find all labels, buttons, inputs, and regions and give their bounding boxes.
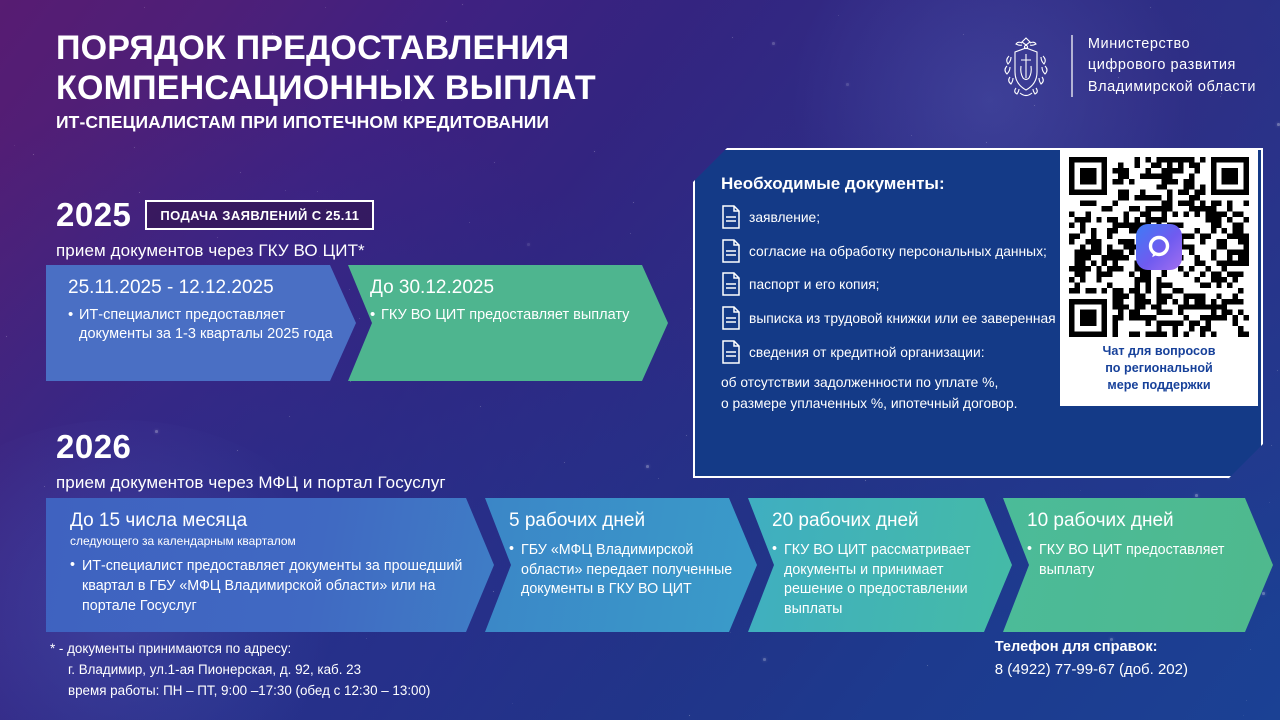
section-2026-header: 2026 прием документов через МФЦ и портал… bbox=[56, 428, 446, 493]
phone-label: Телефон для справок: bbox=[995, 637, 1188, 659]
footnote-line-3: время работы: ПН – ПТ, 9:00 –17:30 (обед… bbox=[50, 680, 430, 701]
step-subheading: следующего за календарным кварталом bbox=[70, 534, 472, 550]
section-2025-header: 2025 ПОДАЧА ЗАЯВЛЕНИЙ С 25.11 прием доку… bbox=[56, 196, 374, 261]
step-heading: 25.11.2025 - 12.12.2025 bbox=[68, 276, 336, 300]
ministry-line-3: Владимирской области bbox=[1088, 77, 1256, 98]
year-2026-label: 2026 bbox=[56, 428, 446, 466]
document-label: паспорт и его копия; bbox=[749, 277, 880, 292]
footnote-block: * - документы принимаются по адресу: г. … bbox=[50, 638, 430, 702]
qr-caption-line-3: мере поддержки bbox=[1103, 377, 1216, 394]
poster-title-block: ПОРЯДОК ПРЕДОСТАВЛЕНИЯ КОМПЕНСАЦИОННЫХ В… bbox=[56, 28, 756, 133]
timeline-step: До 15 числа месяца следующего за календа… bbox=[46, 498, 494, 632]
step-bullet: ГКУ ВО ЦИТ рассматривает документы и при… bbox=[772, 541, 990, 620]
timeline-2025: 25.11.2025 - 12.12.2025 ИТ-специалист пр… bbox=[46, 265, 668, 381]
step-bullet: ГБУ «МФЦ Владимирской области» передает … bbox=[509, 541, 735, 600]
document-label: сведения от кредитной организации: bbox=[749, 345, 985, 360]
year-2025-label: 2025 bbox=[56, 196, 131, 234]
timeline-step: 20 рабочих дней ГКУ ВО ЦИТ рассматривает… bbox=[748, 498, 1012, 632]
infographic-poster: ПОРЯДОК ПРЕДОСТАВЛЕНИЯ КОМПЕНСАЦИОННЫХ В… bbox=[0, 0, 1280, 720]
qr-code-icon[interactable] bbox=[1069, 157, 1249, 337]
step-heading: 20 рабочих дней bbox=[772, 510, 990, 533]
contact-phone-block: Телефон для справок: 8 (4922) 77-99-67 (… bbox=[995, 637, 1188, 681]
section-2026-note: прием документов через МФЦ и портал Госу… bbox=[56, 473, 446, 493]
step-bullet: ИТ-специалист предоставляет документы за… bbox=[70, 557, 472, 616]
ministry-line-1: Министерство bbox=[1088, 34, 1256, 55]
document-icon bbox=[721, 272, 741, 303]
footnote-line-2: г. Владимир, ул.1-ая Пионерская, д. 92, … bbox=[50, 659, 430, 680]
logo-divider bbox=[1071, 35, 1073, 97]
step-heading: 10 рабочих дней bbox=[1027, 510, 1251, 533]
timeline-step: 5 рабочих дней ГБУ «МФЦ Владимирской обл… bbox=[485, 498, 757, 632]
ministry-logo: Министерство цифрового развития Владимир… bbox=[996, 30, 1256, 102]
qr-caption: Чат для вопросов по региональной мере по… bbox=[1103, 343, 1216, 394]
page-subtitle: ИТ-СПЕЦИАЛИСТАМ ПРИ ИПОТЕЧНОМ КРЕДИТОВАН… bbox=[56, 112, 756, 133]
document-label: согласие на обработку персональных данны… bbox=[749, 244, 1047, 259]
step-heading: 5 рабочих дней bbox=[509, 510, 735, 533]
step-bullet: ИТ-специалист предоставляет документы за… bbox=[68, 306, 336, 345]
qr-caption-line-2: по региональной bbox=[1103, 360, 1216, 377]
timeline-step: 25.11.2025 - 12.12.2025 ИТ-специалист пр… bbox=[46, 265, 356, 381]
document-icon bbox=[721, 340, 741, 371]
status-badge-2025: ПОДАЧА ЗАЯВЛЕНИЙ С 25.11 bbox=[145, 200, 374, 230]
qr-support-chat-card[interactable]: Чат для вопросов по региональной мере по… bbox=[1060, 148, 1258, 406]
timeline-step: 10 рабочих дней ГКУ ВО ЦИТ предоставляет… bbox=[1003, 498, 1273, 632]
step-bullet-list: ИТ-специалист предоставляет документы за… bbox=[70, 557, 472, 616]
max-messenger-icon bbox=[1136, 224, 1182, 270]
vladimir-coat-of-arms-icon bbox=[996, 30, 1056, 102]
document-icon bbox=[721, 205, 741, 236]
ministry-line-2: цифрового развития bbox=[1088, 55, 1256, 76]
step-heading: До 30.12.2025 bbox=[370, 276, 648, 300]
document-icon bbox=[721, 306, 741, 337]
step-bullet-list: ГКУ ВО ЦИТ предоставляет выплату bbox=[370, 306, 648, 327]
document-label: заявление; bbox=[749, 210, 820, 225]
step-bullet-list: ГБУ «МФЦ Владимирской области» передает … bbox=[509, 541, 735, 600]
qr-caption-line-1: Чат для вопросов bbox=[1103, 343, 1216, 360]
footnote-line-1: * - документы принимаются по адресу: bbox=[50, 638, 430, 659]
step-bullet: ГКУ ВО ЦИТ предоставляет выплату bbox=[370, 306, 648, 326]
timeline-step: До 30.12.2025 ГКУ ВО ЦИТ предоставляет в… bbox=[348, 265, 668, 381]
ministry-name: Министерство цифрового развития Владимир… bbox=[1088, 34, 1256, 98]
step-bullet: ГКУ ВО ЦИТ предоставляет выплату bbox=[1027, 541, 1251, 580]
timeline-2026: До 15 числа месяца следующего за календа… bbox=[46, 498, 1273, 632]
step-bullet-list: ГКУ ВО ЦИТ рассматривает документы и при… bbox=[772, 541, 990, 620]
section-2025-note: прием документов через ГКУ ВО ЦИТ* bbox=[56, 241, 374, 261]
document-label: выписка из трудовой книжки или ее завере… bbox=[749, 311, 1100, 326]
page-title-line-2: КОМПЕНСАЦИОННЫХ ВЫПЛАТ bbox=[56, 68, 756, 108]
phone-number[interactable]: 8 (4922) 77-99-67 (доб. 202) bbox=[995, 659, 1188, 682]
document-icon bbox=[721, 239, 741, 270]
page-title-line-1: ПОРЯДОК ПРЕДОСТАВЛЕНИЯ bbox=[56, 28, 756, 68]
step-bullet-list: ИТ-специалист предоставляет документы за… bbox=[68, 306, 336, 346]
step-bullet-list: ГКУ ВО ЦИТ предоставляет выплату bbox=[1027, 541, 1251, 580]
step-heading: До 15 числа месяца bbox=[70, 510, 472, 533]
